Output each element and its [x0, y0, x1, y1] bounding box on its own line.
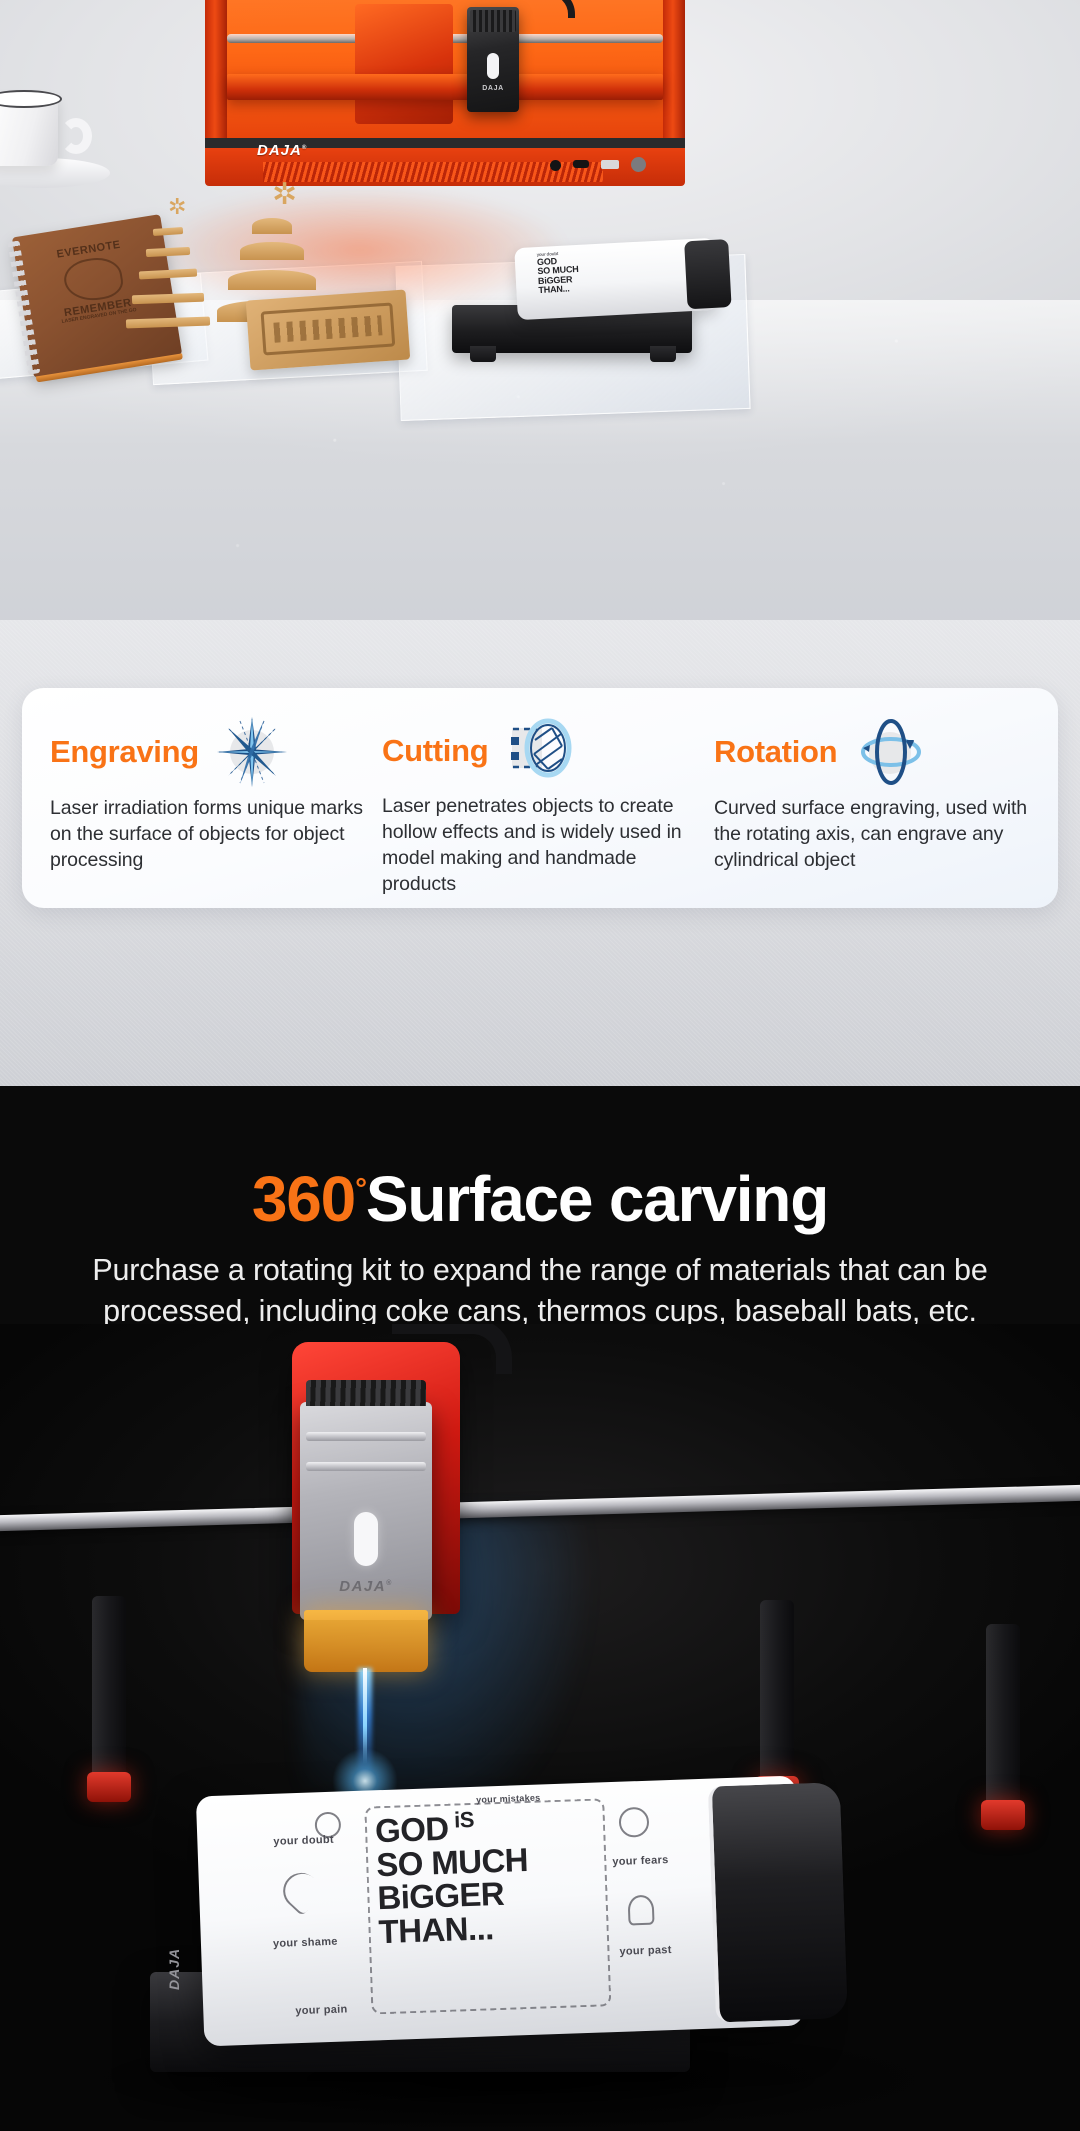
feature-engraving-title: Engraving	[50, 734, 199, 770]
feature-rotation-description: Curved surface engraving, used with the …	[714, 796, 1030, 874]
feature-cutting: Cutting	[382, 714, 714, 886]
notebook-art-illustration	[61, 254, 125, 305]
machine-leg	[986, 1624, 1020, 1814]
lightbulb-doodle-icon	[628, 1895, 655, 1926]
rotary-foot	[470, 346, 496, 362]
feature-engraving: Engraving	[50, 714, 382, 886]
headline-rest: Surface carving	[366, 1163, 828, 1235]
bottle-cap	[708, 1782, 848, 2022]
cooling-fan	[306, 1380, 426, 1406]
power-button	[631, 157, 646, 172]
laser-lens-housing	[304, 1610, 428, 1672]
module-brand-logo: DAJA®	[300, 1578, 432, 1595]
feature-rotation-title: Rotation	[714, 734, 837, 770]
power-port	[550, 160, 561, 171]
laser-module: DAJA®	[300, 1402, 432, 1620]
module-indicator-window	[354, 1512, 378, 1566]
features-card: Engraving	[22, 688, 1058, 908]
artwork-side-pain: your pain	[295, 2003, 348, 2017]
wooden-tree-small: ✲	[128, 200, 208, 340]
feature-engraving-description: Laser irradiation forms unique marks on …	[50, 796, 366, 874]
engraved-water-bottle: GODiS SO MUCH BiGGER THAN... your doubt …	[196, 1776, 804, 2047]
machine-leg	[760, 1600, 794, 1790]
cut-selection-oval-icon	[504, 714, 578, 788]
section-headline: 360°Surface carving	[0, 1162, 1080, 1236]
coffee-mug	[0, 94, 58, 166]
feature-cutting-header: Cutting	[382, 714, 698, 788]
smiley-doodle-icon	[618, 1807, 649, 1838]
rotation-axis-icon	[853, 715, 927, 789]
feature-cutting-description: Laser penetrates objects to create hollo…	[382, 794, 698, 898]
module-vent	[306, 1432, 426, 1441]
headline-number: 360	[252, 1163, 355, 1235]
machine-brand-logo: DAJA®	[257, 142, 307, 159]
mug-handle	[60, 118, 92, 154]
module-vent	[306, 1462, 426, 1471]
flower-doodle-icon	[314, 1812, 341, 1839]
section-subheadline: Purchase a rotating kit to expand the ra…	[35, 1250, 1045, 1332]
product-detail-page: DAJA DAJA® EVERNOTE REMEMBER LASER ENGRA…	[0, 0, 1080, 2131]
bottle-cap	[684, 239, 731, 309]
feature-rotation-header: Rotation	[714, 714, 1030, 790]
heart-doodle-icon	[276, 1865, 327, 1916]
hero-product-photo: DAJA DAJA® EVERNOTE REMEMBER LASER ENGRA…	[0, 0, 1080, 620]
usb-a-port	[601, 160, 619, 169]
bottle-engraved-art: your doubt GOD SO MUCH BiGGER THAN...	[537, 246, 680, 313]
machine-foot	[87, 1772, 131, 1802]
laser-head-cable	[505, 0, 575, 18]
carriage-cable	[392, 1324, 512, 1374]
artwork-line1-suffix: iS	[454, 1807, 474, 1833]
machine-gantry-beam	[227, 74, 663, 100]
sparkle-starburst-icon	[215, 715, 289, 789]
usb-c-port	[573, 160, 589, 168]
laser-engraver-machine: DAJA DAJA®	[205, 0, 685, 197]
features-section: Engraving	[0, 620, 1080, 1086]
roller-brand-label: DAJA	[166, 1948, 182, 1990]
feature-rotation: Rotation Curved surface engraving, used …	[714, 714, 1030, 886]
degree-symbol: °	[355, 1173, 366, 1206]
feature-cutting-title: Cutting	[382, 733, 488, 769]
bottle-engraving-artwork: GODiS SO MUCH BiGGER THAN... your doubt …	[266, 1795, 693, 2030]
machine-x-carriage	[355, 4, 453, 124]
artwork-main-text: GODiS SO MUCH BiGGER THAN...	[374, 1805, 597, 1949]
laser-head-window	[487, 53, 499, 79]
artwork-side-past: your past	[619, 1944, 672, 1958]
wooden-cutout-plaque	[246, 290, 410, 371]
machine-leg	[92, 1596, 126, 1786]
feature-engraving-header: Engraving	[50, 714, 366, 790]
artwork-line4: THAN...	[378, 1909, 494, 1950]
artwork-side-fears: your fears	[612, 1854, 669, 1869]
artwork-side-shame: your shame	[273, 1936, 338, 1951]
machine-foot	[981, 1800, 1025, 1830]
laser-head-module: DAJA	[467, 7, 519, 112]
engraved-bottle: your doubt GOD SO MUCH BiGGER THAN...	[514, 238, 717, 320]
laser-head-brand-label: DAJA	[467, 85, 519, 92]
surface-carving-section: 360°Surface carving Purchase a rotating …	[0, 1086, 1080, 2131]
rotary-engraving-photo: DAJA® DAJA GODiS SO MUCH BiGGER THAN..	[0, 1324, 1080, 2131]
rotary-foot	[650, 346, 676, 362]
